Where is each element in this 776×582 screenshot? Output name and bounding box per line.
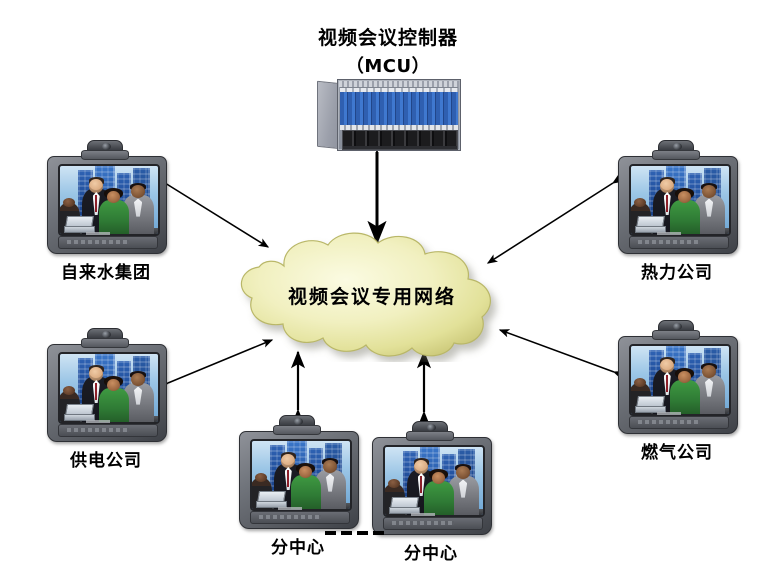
network-cloud[interactable]: 视频会议专用网络 [222,232,522,362]
video-conference-scene [631,346,729,414]
tv-control-panel [250,511,350,524]
tv-monitor-icon [47,156,167,254]
camera-lens [427,424,436,431]
endpoint-label-water: 自来水集团 [39,258,173,283]
tv-monitor-icon [618,336,738,434]
conference-camera-icon [406,421,452,439]
tv-brand-mark [86,232,110,235]
endpoint-water[interactable]: 自来水集团 [47,140,165,252]
mcu-title-line1: 视频会议控制器 [268,26,508,52]
camera-base [652,150,700,160]
link-sub1-sub2-dashed [325,531,397,535]
camera-lens [673,323,682,330]
tv-brand-mark [657,232,681,235]
conference-camera-icon [81,328,127,346]
tv-screen [629,164,731,236]
endpoint-heat[interactable]: 热力公司 [618,140,736,252]
tv-control-panel [629,416,729,429]
diagram-canvas: 视频会议控制器 （MCU） [0,0,776,582]
conference-camera-icon [273,415,319,433]
conference-camera-icon [81,140,127,158]
mcu-front-panel [337,79,461,151]
tv-control-panel [58,424,158,437]
endpoint-sub-center-2[interactable]: 分中心 [372,421,490,533]
camera-base [81,150,129,160]
camera-base [273,425,321,435]
tv-monitor-icon [372,437,492,535]
camera-lens [102,143,111,150]
video-conference-scene [252,441,350,509]
tv-screen [629,344,731,416]
tv-control-panel [58,236,158,249]
tv-monitor-icon [618,156,738,254]
network-cloud-label: 视频会议专用网络 [222,282,522,309]
tv-brand-mark [278,507,302,510]
conference-camera-icon [652,140,698,158]
video-conference-scene [60,166,158,234]
video-conference-scene [631,166,729,234]
video-conference-scene [60,354,158,422]
endpoint-label-power: 供电公司 [39,446,173,471]
tv-screen [250,439,352,511]
endpoint-sub-center-1[interactable]: 分中心 [239,415,357,527]
mcu-blade-cards [340,87,458,126]
endpoint-label-gas: 燃气公司 [610,438,744,463]
conference-camera-icon [652,320,698,338]
tv-brand-mark [411,513,435,516]
mcu-chassis-icon[interactable] [317,79,459,149]
tv-control-panel [629,236,729,249]
camera-lens [102,331,111,338]
endpoint-label-sub-center-2: 分中心 [364,539,498,564]
mcu-module-bays [342,130,458,150]
tv-control-panel [383,517,483,530]
tv-screen [58,352,160,424]
camera-base [406,431,454,441]
camera-base [652,330,700,340]
camera-lens [673,143,682,150]
tv-brand-mark [86,420,110,423]
tv-screen [58,164,160,236]
tv-brand-mark [657,412,681,415]
endpoint-gas[interactable]: 燃气公司 [618,320,736,432]
endpoint-label-sub-center-1: 分中心 [231,533,365,558]
camera-base [81,338,129,348]
endpoint-label-heat: 热力公司 [610,258,744,283]
video-conference-scene [385,447,483,515]
camera-lens [294,418,303,425]
endpoint-power[interactable]: 供电公司 [47,328,165,440]
tv-screen [383,445,485,517]
tv-monitor-icon [239,431,359,529]
mcu-title-line2: （MCU） [268,52,508,78]
tv-monitor-icon [47,344,167,442]
